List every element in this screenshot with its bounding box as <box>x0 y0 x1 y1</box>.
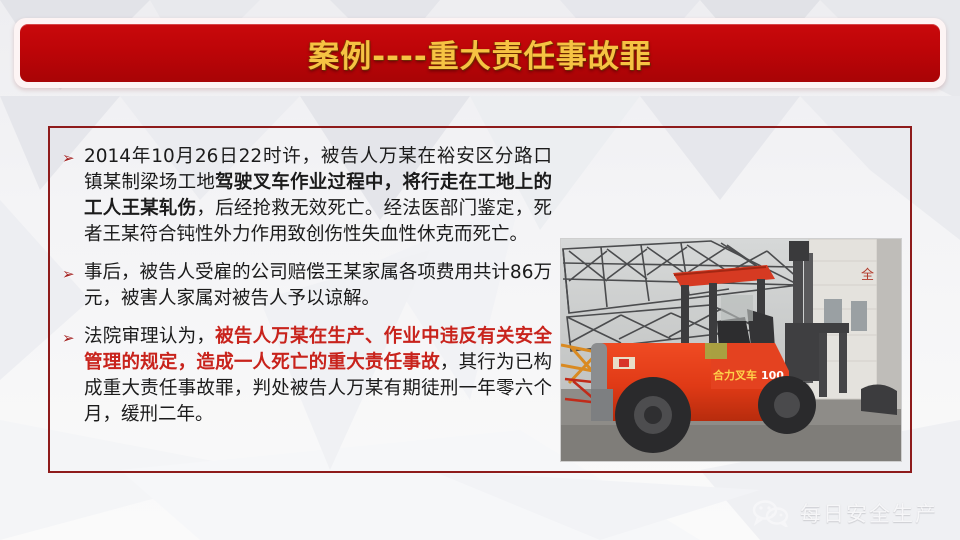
svg-text:全: 全 <box>861 267 874 283</box>
paragraph-text: 法院审理认为，被告人万某在生产、作业中违反有关安全管理的规定，造成一人死亡的重大… <box>84 324 552 428</box>
watermark-label: 每日安全生产 <box>800 498 938 528</box>
page-title: 案例----重大责任事故罪 <box>308 31 651 76</box>
paragraph-text: 2014年10月26日22时许，被告人万某在裕安区分路口镇某制梁场工地驾驶叉车作… <box>84 144 552 248</box>
text-segment: 事后，被告人受雇的公司赔偿王某家属各项费用共计86万元，被害人家属对被告人予以谅… <box>84 262 552 309</box>
text-segment: 法院审理认为， <box>84 326 215 347</box>
forklift-accident-photo: 全 <box>561 239 901 461</box>
slide-canvas: 案例----重大责任事故罪 ➢ 2014年10月26日22时许，被告人万某在裕安… <box>0 0 960 540</box>
wechat-icon <box>751 499 791 527</box>
list-item: ➢ 事后，被告人受雇的公司赔偿王某家属各项费用共计86万元，被害人家属对被告人予… <box>62 260 552 312</box>
list-item: ➢ 2014年10月26日22时许，被告人万某在裕安区分路口镇某制梁场工地驾驶叉… <box>62 144 552 248</box>
title-plate: 案例----重大责任事故罪 <box>20 24 940 82</box>
arrow-bullet-icon: ➢ <box>62 331 84 346</box>
watermark: 每日安全生产 <box>751 498 938 528</box>
svg-text:合力叉车: 合力叉车 <box>713 368 757 382</box>
list-item: ➢ 法院审理认为，被告人万某在生产、作业中违反有关安全管理的规定，造成一人死亡的… <box>62 324 552 428</box>
bullet-list: ➢ 2014年10月26日22时许，被告人万某在裕安区分路口镇某制梁场工地驾驶叉… <box>62 144 552 440</box>
arrow-bullet-icon: ➢ <box>62 267 84 282</box>
arrow-bullet-icon: ➢ <box>62 151 84 166</box>
slide-title-bar: 案例----重大责任事故罪 <box>14 18 946 88</box>
paragraph-text: 事后，被告人受雇的公司赔偿王某家属各项费用共计86万元，被害人家属对被告人予以谅… <box>84 260 552 312</box>
